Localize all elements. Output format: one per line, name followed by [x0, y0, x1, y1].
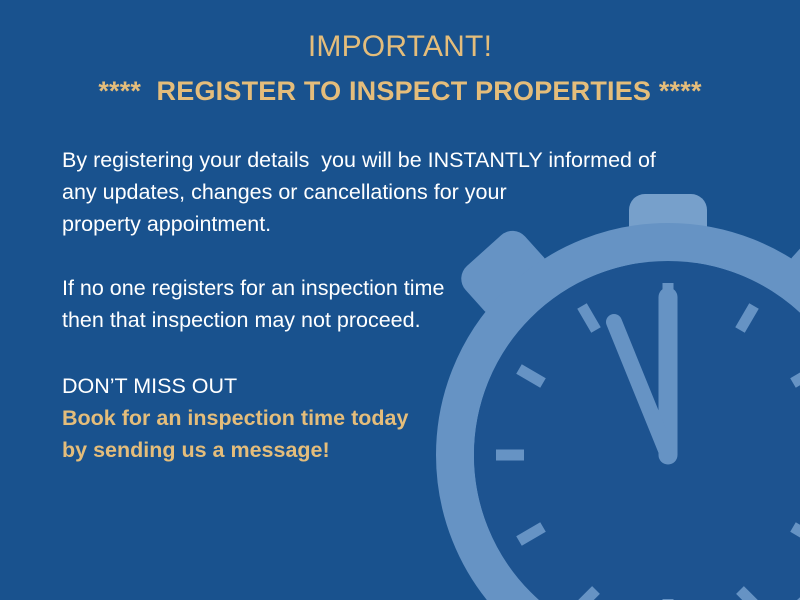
paragraph-spacer-1: [62, 240, 722, 272]
paragraph2-line1: If no one registers for an inspection ti…: [62, 272, 722, 304]
paragraph-registering-details: By registering your details you will be …: [62, 144, 722, 240]
cta-dont-miss-out: DON’T MISS OUT: [62, 370, 722, 402]
slide-canvas: IMPORTANT! **** REGISTER TO INSPECT PROP…: [0, 0, 800, 600]
heading-important: IMPORTANT!: [0, 28, 800, 66]
heading-register-to-inspect: **** REGISTER TO INSPECT PROPERTIES ****: [0, 72, 800, 110]
stopwatch-lug-right: [781, 224, 800, 324]
call-to-action-block: DON’T MISS OUT Book for an inspection ti…: [62, 370, 722, 466]
cta-book-inspection: Book for an inspection time today: [62, 402, 722, 434]
paragraph1-line3: property appointment.: [62, 208, 722, 240]
paragraph-no-one-registers: If no one registers for an inspection ti…: [62, 272, 722, 336]
heading-block: IMPORTANT! **** REGISTER TO INSPECT PROP…: [0, 28, 800, 110]
paragraph1-line1: By registering your details you will be …: [62, 144, 722, 176]
paragraph2-line2: then that inspection may not proceed.: [62, 304, 722, 336]
cta-send-message: by sending us a message!: [62, 434, 722, 466]
body-copy: By registering your details you will be …: [62, 144, 722, 466]
paragraph-spacer-2: [62, 336, 722, 370]
paragraph1-line2: any updates, changes or cancellations fo…: [62, 176, 722, 208]
